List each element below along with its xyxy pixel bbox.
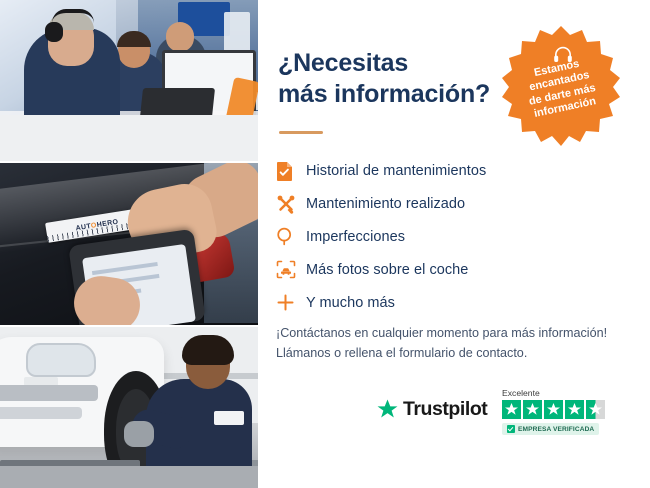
white-desk-surface	[0, 115, 258, 161]
headset-earpiece-icon	[45, 22, 63, 42]
trustpilot-rating[interactable]: Excelente	[502, 388, 638, 438]
star-4	[565, 400, 584, 419]
star-3	[544, 400, 563, 419]
tools-cross-icon	[276, 193, 306, 215]
trustpilot-wordmark: Trustpilot	[403, 398, 487, 421]
verified-label: EMPRESA VERIFICADA	[518, 426, 594, 433]
page-title-line-2: más información?	[278, 79, 508, 110]
feature-label: Más fotos sobre el coche	[306, 262, 468, 278]
feature-item-mas: Y mucho más	[276, 286, 636, 319]
feature-label: Mantenimiento realizado	[306, 196, 465, 212]
star-1	[502, 400, 521, 419]
contact-line-2: Llámanos o rellena el formulario de cont…	[276, 344, 636, 364]
headset-band-icon	[52, 9, 94, 23]
feature-list: Historial de mantenimientos Mantenimient…	[276, 154, 636, 319]
car-lower-grille	[0, 407, 82, 419]
feature-label: Historial de mantenimientos	[306, 163, 486, 179]
car-inspection-ruler-photo: AUTOHERO	[0, 161, 258, 324]
star-2	[523, 400, 542, 419]
workshop-floor	[0, 466, 258, 488]
verified-company-badge: EMPRESA VERIFICADA	[502, 423, 599, 435]
feature-item-historial: Historial de mantenimientos	[276, 154, 636, 187]
plus-icon	[276, 292, 306, 314]
mechanic-hair	[182, 335, 234, 365]
document-check-icon	[276, 160, 306, 182]
trustpilot-widget[interactable]: Trustpilot Excelente	[376, 388, 638, 446]
feature-item-imperfecciones: Imperfecciones	[276, 220, 636, 253]
contact-text: ¡Contáctanos en cualquier momento para m…	[276, 324, 636, 363]
tablet-text-row	[92, 262, 158, 275]
feature-label: Imperfecciones	[306, 229, 405, 245]
promo-card: AUTOHERO	[0, 0, 650, 488]
mechanic-glove	[124, 421, 154, 447]
star-5-half	[586, 400, 605, 419]
star-rating[interactable]	[502, 400, 638, 419]
content-panel: ¿Necesitas más información? Estamos enca…	[258, 0, 650, 488]
verified-check-icon	[507, 425, 515, 433]
page-title-line-1: ¿Necesitas	[278, 48, 508, 79]
contact-line-1: ¡Contáctanos en cualquier momento para m…	[276, 324, 636, 344]
car-grille	[0, 385, 98, 401]
call-center-agents-photo	[0, 0, 258, 161]
car-scan-icon	[276, 259, 306, 281]
title-underline-divider	[279, 131, 323, 134]
feature-label: Y mucho más	[306, 295, 395, 311]
mechanic-uniform-badge	[214, 411, 244, 425]
mechanic-wheel-photo	[0, 325, 258, 488]
trustpilot-star-icon	[376, 398, 399, 421]
support-badge: Estamos encantados de darte más informac…	[499, 24, 623, 148]
feature-item-fotos: Más fotos sobre el coche	[276, 253, 636, 286]
page-title: ¿Necesitas más información?	[278, 48, 508, 109]
rating-label: Excelente	[502, 388, 638, 398]
car-headlight	[26, 343, 96, 377]
magnifier-icon	[276, 226, 306, 248]
background-person-head	[166, 22, 194, 52]
trustpilot-logo[interactable]: Trustpilot	[376, 398, 487, 421]
feature-item-mantenimiento: Mantenimiento realizado	[276, 187, 636, 220]
photo-collage: AUTOHERO	[0, 0, 258, 488]
